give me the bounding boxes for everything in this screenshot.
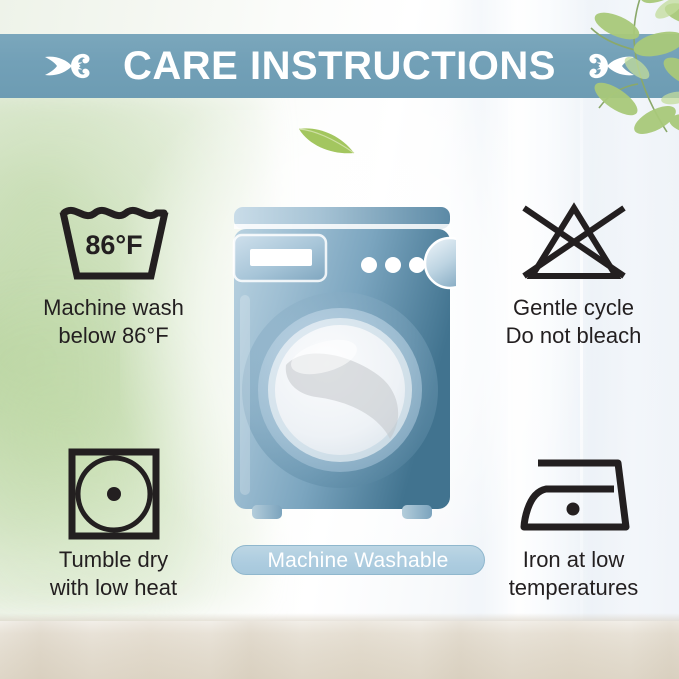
machine-washable-badge-label: Machine Washable xyxy=(267,550,448,571)
washer-body-highlight xyxy=(240,295,250,495)
care-symbol-do-not-bleach: Gentle cycle Do not bleach xyxy=(466,196,679,349)
tumble-dry-icon xyxy=(65,447,163,541)
care-symbol-iron-low-caption: Iron at low temperatures xyxy=(466,546,679,601)
washing-machine-illustration xyxy=(228,205,456,535)
page-title: CARE INSTRUCTIONS xyxy=(123,46,556,86)
wooden-table-surface xyxy=(0,621,679,679)
care-symbol-iron-low: Iron at low temperatures xyxy=(466,448,679,601)
washer-foot-left xyxy=(252,505,282,519)
care-symbol-machine-wash: 86°F Machine wash below 86°F xyxy=(6,196,221,349)
triangle-crossed-icon-wrapper xyxy=(466,196,679,288)
fleur-de-lis-icon-right xyxy=(574,46,638,86)
washer-top-seam xyxy=(234,224,450,229)
wash-tub-icon-wrapper: 86°F xyxy=(6,196,221,288)
tumble-dry-icon-wrapper xyxy=(6,448,221,540)
care-symbol-tumble-dry-caption: Tumble dry with low heat xyxy=(6,546,221,601)
washer-display xyxy=(250,249,312,266)
washer-indicator-dot-2 xyxy=(385,257,401,273)
iron-icon-wrapper xyxy=(466,448,679,540)
header-banner: CARE INSTRUCTIONS xyxy=(0,34,679,98)
fleur-de-lis-icon-left xyxy=(41,46,105,86)
care-symbol-tumble-dry: Tumble dry with low heat xyxy=(6,448,221,601)
wash-tub-icon: 86°F xyxy=(53,198,175,286)
triangle-crossed-icon xyxy=(516,198,632,286)
table-edge xyxy=(0,613,679,621)
care-symbol-machine-wash-caption: Machine wash below 86°F xyxy=(6,294,221,349)
washer-indicator-dot-3 xyxy=(409,257,425,273)
wash-temperature-value: 86°F xyxy=(85,230,142,260)
care-symbol-do-not-bleach-caption: Gentle cycle Do not bleach xyxy=(466,294,679,349)
machine-washable-badge: Machine Washable xyxy=(231,545,485,575)
floating-leaf-icon xyxy=(296,120,358,160)
washer-foot-right xyxy=(402,505,432,519)
iron-icon xyxy=(514,449,634,539)
washer-indicator-dot-1 xyxy=(361,257,377,273)
care-instructions-poster: CARE INSTRUCTIONS xyxy=(0,0,679,679)
